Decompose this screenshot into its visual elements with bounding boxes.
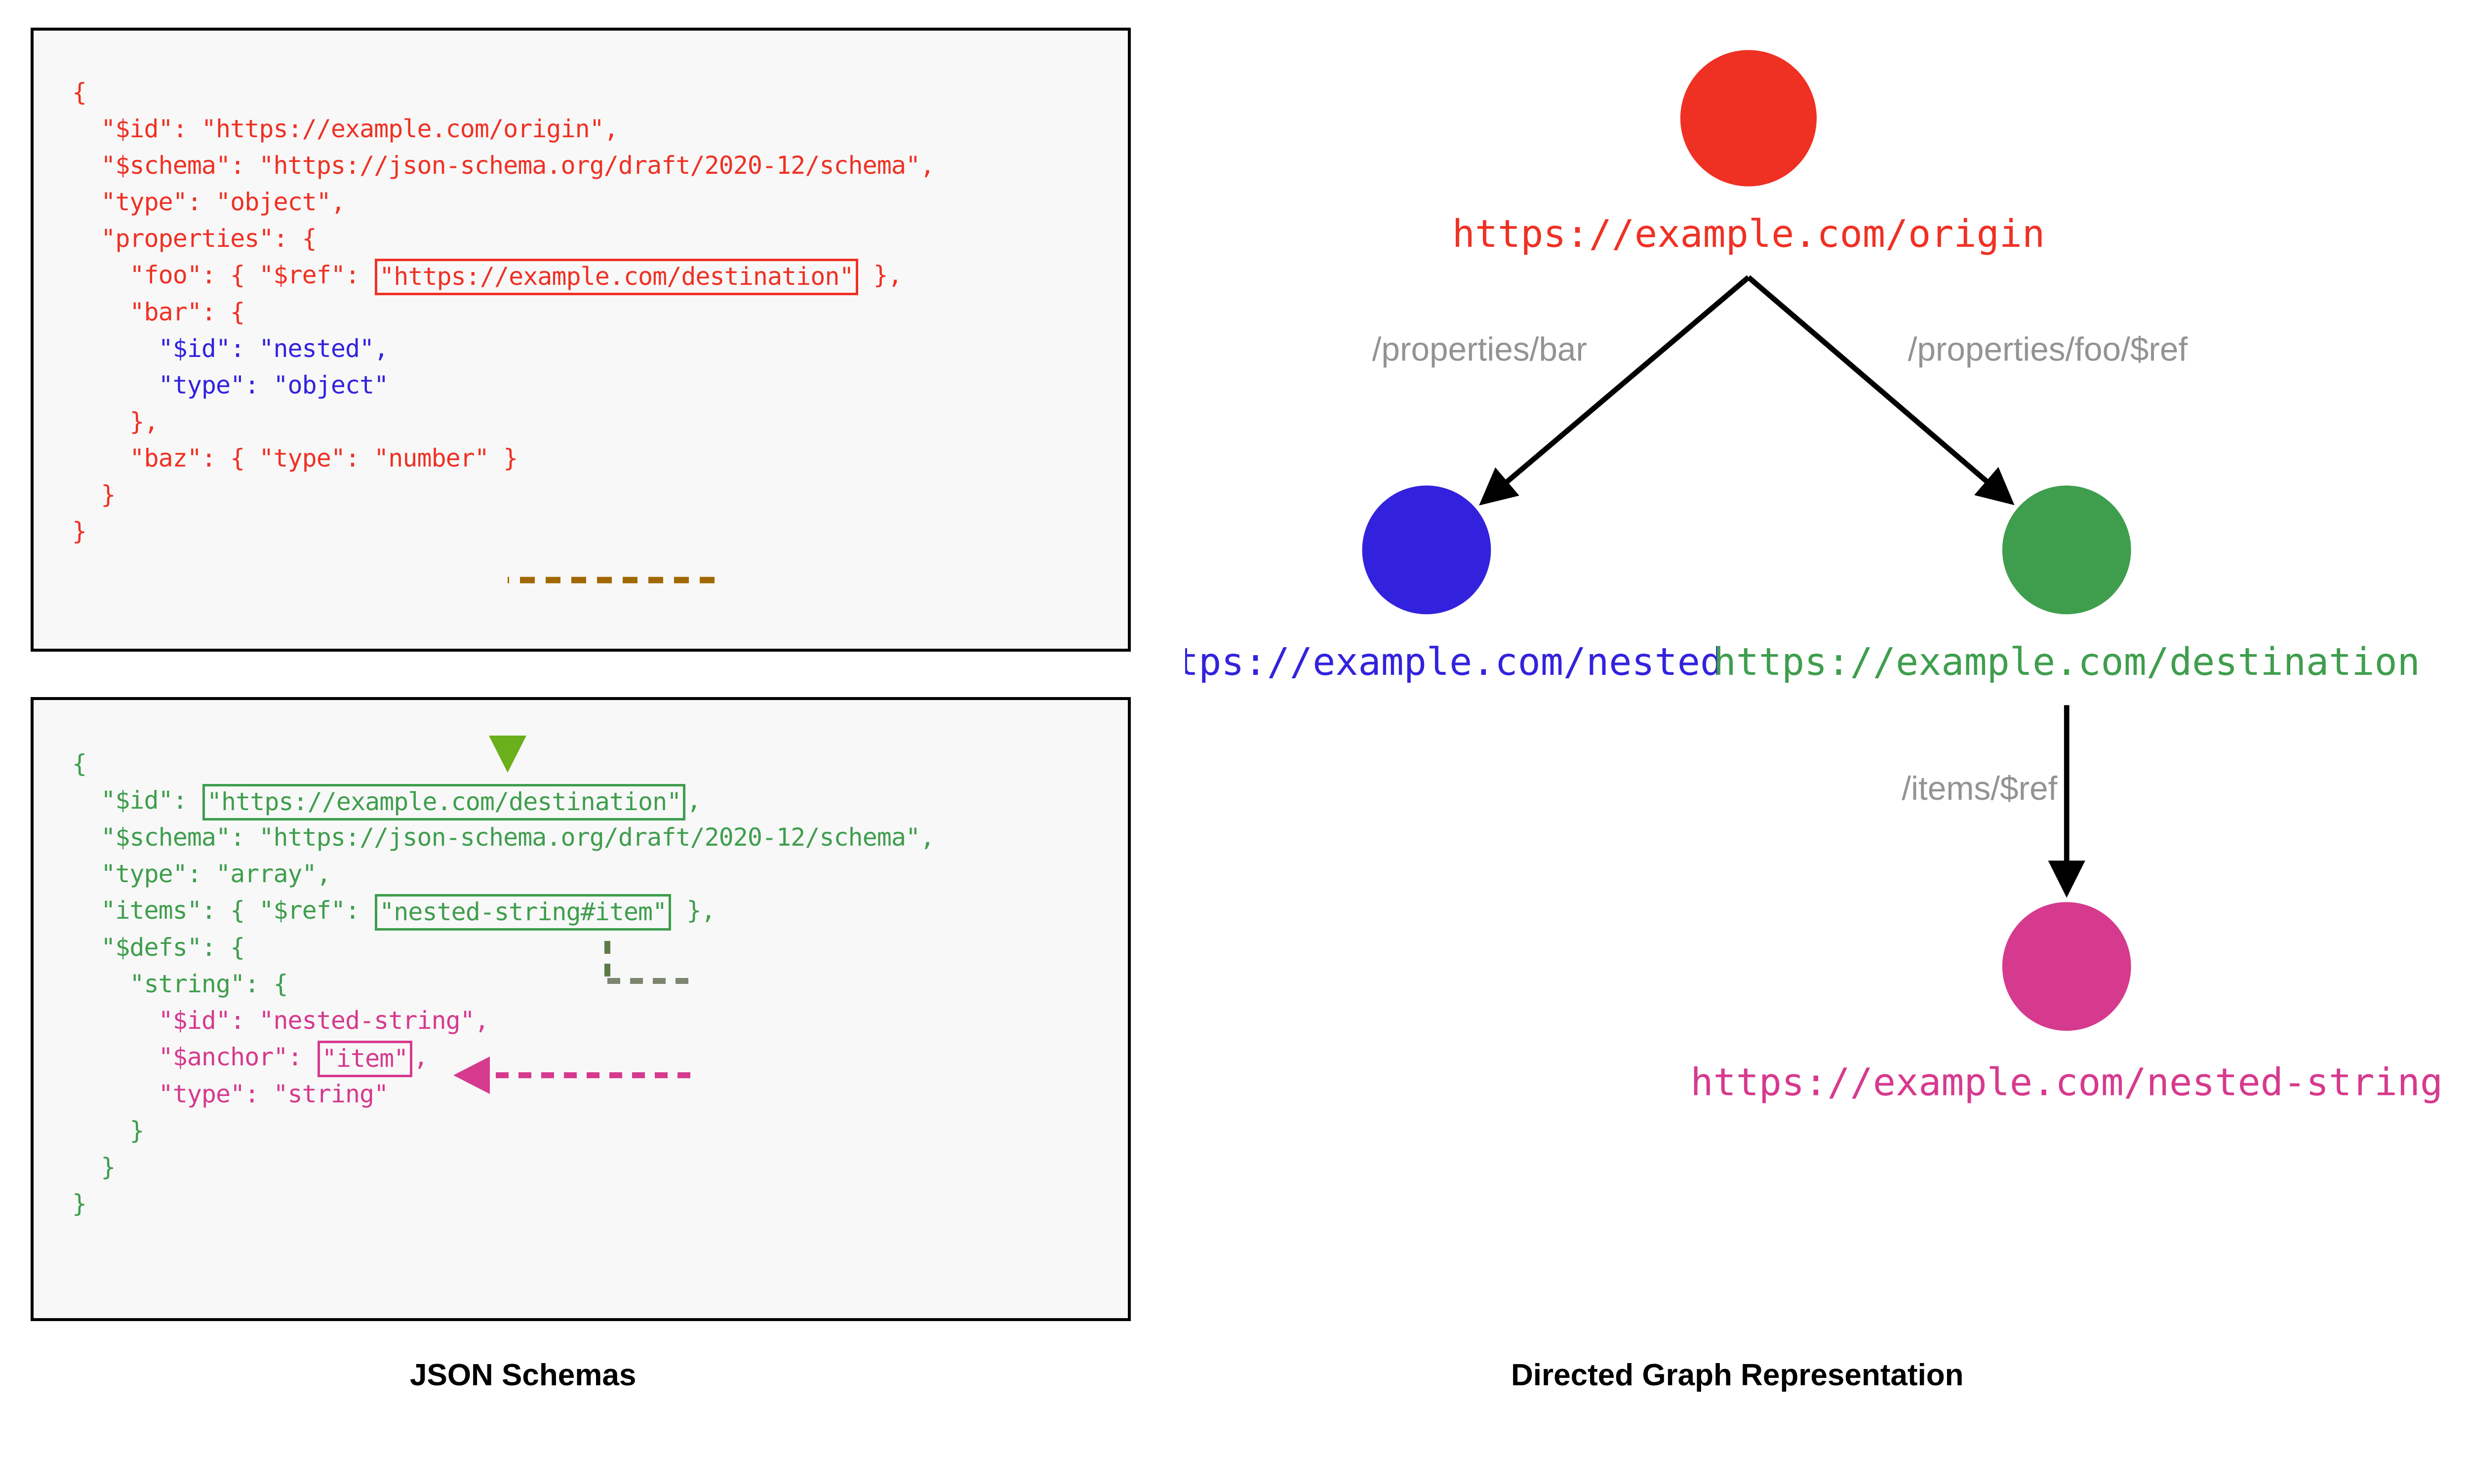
destination-schema-highlight-box: "https://example.com/destination" bbox=[202, 784, 685, 820]
origin-schema-text: "bar": { bbox=[129, 298, 244, 326]
destination-schema-line: } bbox=[72, 1149, 934, 1185]
destination-schema-line: "$defs": { bbox=[72, 929, 934, 966]
origin-schema-line: "foo": { "$ref": "https://example.com/de… bbox=[72, 257, 934, 294]
origin-schema-line: "bar": { bbox=[72, 294, 934, 330]
left-caption: JSON Schemas bbox=[410, 1358, 636, 1393]
destination-schema-text: } bbox=[72, 1189, 86, 1218]
destination-schema-line: "string": { bbox=[72, 966, 934, 1002]
indent-space bbox=[72, 859, 101, 888]
origin-schema-text: "type": "object" bbox=[159, 371, 389, 399]
graph-node-destination[interactable] bbox=[2002, 485, 2131, 614]
origin-schema-text: "properties": { bbox=[101, 224, 317, 253]
origin-schema-highlight-box: "https://example.com/destination" bbox=[375, 259, 858, 295]
origin-schema-text: "$schema": "https://json-schema.org/draf… bbox=[101, 151, 934, 180]
origin-schema-line: } bbox=[72, 513, 934, 549]
destination-schema-text: "string": { bbox=[129, 970, 287, 998]
origin-schema-line: "type": "object" bbox=[72, 367, 934, 403]
origin-schema-line: { bbox=[72, 74, 934, 111]
indent-space bbox=[72, 261, 129, 289]
destination-schema-text: } bbox=[129, 1116, 144, 1145]
indent-space bbox=[72, 933, 101, 962]
origin-schema-text: }, bbox=[859, 261, 902, 289]
figure-root: { "$id": "https://example.com/origin", "… bbox=[0, 0, 2469, 1484]
schema-code-origin: { "$id": "https://example.com/origin", "… bbox=[72, 74, 934, 549]
destination-schema-line: "type": "array", bbox=[72, 856, 934, 892]
indent-space bbox=[72, 334, 159, 363]
origin-schema-text: } bbox=[101, 480, 115, 509]
indent-space bbox=[72, 823, 101, 852]
graph-node-nested[interactable] bbox=[1362, 485, 1491, 614]
destination-schema-text: "type": "array", bbox=[101, 859, 331, 888]
destination-schema-text: "items": { "$ref": bbox=[101, 896, 374, 925]
origin-schema-line: "properties": { bbox=[72, 220, 934, 257]
graph-node-origin[interactable] bbox=[1680, 50, 1817, 186]
indent-space bbox=[72, 444, 129, 472]
origin-schema-line: "baz": { "type": "number" } bbox=[72, 440, 934, 476]
indent-space bbox=[72, 1006, 159, 1035]
graph-node-label-destination: https://example.com/destination bbox=[1713, 640, 2420, 684]
indent-space bbox=[72, 1043, 159, 1071]
origin-schema-text: "type": "object", bbox=[101, 188, 345, 216]
destination-schema-text: "$id": "nested-string", bbox=[159, 1006, 489, 1035]
indent-space bbox=[72, 151, 101, 180]
indent-space bbox=[72, 970, 129, 998]
edge-label-destination-to-nested-string: /items/$ref bbox=[1902, 770, 2057, 807]
destination-schema-highlight-box: "item" bbox=[318, 1041, 413, 1077]
destination-schema-text: , bbox=[413, 1043, 428, 1071]
origin-schema-text: "$id": "nested", bbox=[159, 334, 389, 363]
destination-schema-line: "$schema": "https://json-schema.org/draf… bbox=[72, 819, 934, 856]
destination-schema-line: "$id": "https://example.com/destination"… bbox=[72, 782, 934, 819]
destination-schema-text: "$defs": { bbox=[101, 933, 244, 962]
graph-edge-origin-to-destination bbox=[1749, 277, 2007, 499]
origin-schema-line: "$schema": "https://json-schema.org/draf… bbox=[72, 147, 934, 184]
origin-schema-line: }, bbox=[72, 403, 934, 440]
origin-schema-text: }, bbox=[129, 407, 158, 436]
destination-schema-text: "$anchor": bbox=[159, 1043, 317, 1071]
origin-schema-text: "foo": { "$ref": bbox=[129, 261, 374, 289]
indent-space bbox=[72, 896, 101, 925]
indent-space bbox=[72, 407, 129, 436]
graph-nodes bbox=[1362, 50, 2131, 1031]
origin-schema-line: "type": "object", bbox=[72, 184, 934, 220]
destination-schema-line: } bbox=[72, 1185, 934, 1222]
edge-label-origin-to-destination: /properties/foo/$ref bbox=[1908, 331, 2188, 368]
destination-schema-line: "$anchor": "item", bbox=[72, 1039, 934, 1076]
destination-schema-line: "type": "string" bbox=[72, 1076, 934, 1112]
indent-space bbox=[72, 786, 101, 815]
destination-schema-line: "$id": "nested-string", bbox=[72, 1002, 934, 1039]
destination-schema-text: { bbox=[72, 749, 86, 778]
destination-schema-line: } bbox=[72, 1112, 934, 1149]
destination-schema-text: , bbox=[686, 786, 701, 815]
indent-space bbox=[72, 224, 101, 253]
schema-panel-destination: { "$id": "https://example.com/destinatio… bbox=[31, 697, 1131, 1321]
origin-schema-text: "baz": { "type": "number" } bbox=[129, 444, 518, 472]
graph-node-nested-string[interactable] bbox=[2002, 902, 2131, 1031]
graph-node-label-nested-string: https://example.com/nested-string bbox=[1690, 1060, 2443, 1104]
destination-schema-text: } bbox=[101, 1153, 115, 1181]
right-caption: Directed Graph Representation bbox=[1511, 1358, 1963, 1393]
origin-schema-line: } bbox=[72, 476, 934, 513]
destination-schema-highlight-box: "nested-string#item" bbox=[375, 894, 671, 931]
destination-schema-text: }, bbox=[672, 896, 715, 925]
origin-schema-line: "$id": "https://example.com/origin", bbox=[72, 111, 934, 147]
graph-node-label-origin: https://example.com/origin bbox=[1452, 212, 2045, 256]
origin-schema-text: "$id": "https://example.com/origin", bbox=[101, 115, 618, 143]
origin-schema-text: } bbox=[72, 517, 86, 546]
origin-schema-text: { bbox=[72, 78, 86, 107]
indent-space bbox=[72, 298, 129, 326]
destination-schema-text: "$id": bbox=[101, 786, 201, 815]
indent-space bbox=[72, 1116, 129, 1145]
schema-code-destination: { "$id": "https://example.com/destinatio… bbox=[72, 745, 934, 1222]
destination-schema-text: "type": "string" bbox=[159, 1080, 389, 1108]
edge-label-origin-to-nested: /properties/bar bbox=[1372, 331, 1587, 368]
indent-space bbox=[72, 115, 101, 143]
graph-node-label-nested: https://example.com/nested bbox=[1185, 640, 1723, 684]
destination-schema-text: "$schema": "https://json-schema.org/draf… bbox=[101, 823, 934, 852]
indent-space bbox=[72, 188, 101, 216]
destination-schema-line: "items": { "$ref": "nested-string#item" … bbox=[72, 892, 934, 929]
indent-space bbox=[72, 1080, 159, 1108]
destination-schema-line: { bbox=[72, 745, 934, 782]
schema-panel-origin: { "$id": "https://example.com/origin", "… bbox=[31, 28, 1131, 652]
indent-space bbox=[72, 371, 159, 399]
indent-space bbox=[72, 1153, 101, 1181]
indent-space bbox=[72, 480, 101, 509]
graph-edge-origin-to-nested bbox=[1486, 277, 1748, 500]
origin-schema-line: "$id": "nested", bbox=[72, 330, 934, 367]
directed-graph: /properties/bar/properties/foo/$ref/item… bbox=[1185, 20, 2469, 1353]
